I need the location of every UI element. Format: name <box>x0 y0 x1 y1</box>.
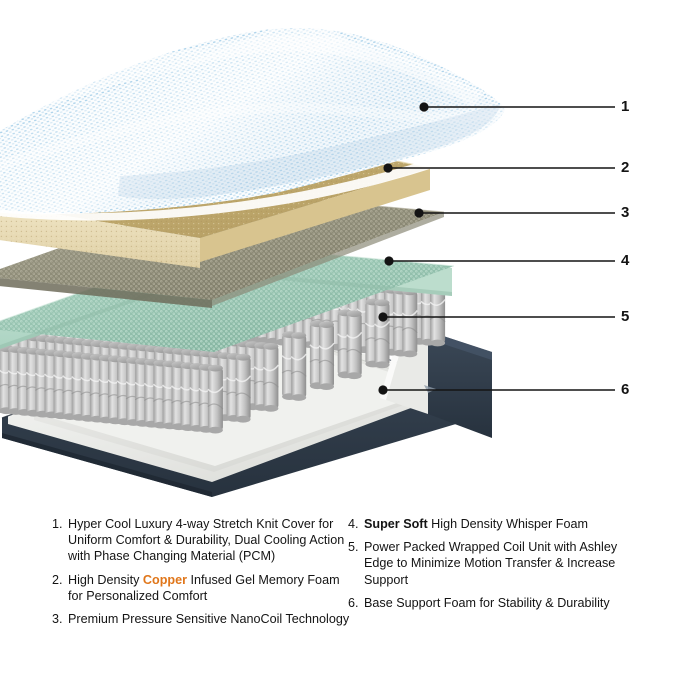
legend-item-number: 1. <box>52 516 68 532</box>
callout-number-5: 5 <box>621 309 641 324</box>
legend-copper-highlight: Copper <box>143 573 187 587</box>
mattress-cutaway-diagram <box>0 0 700 510</box>
legend-item-left-2: 2.High Density Copper Infused Gel Memory… <box>52 572 352 604</box>
legend-emphasis: Super Soft <box>364 517 428 531</box>
legend-item-text: Hyper Cool Luxury 4-way Stretch Knit Cov… <box>68 516 352 565</box>
mattress-construction-figure: 123456 1.Hyper Cool Luxury 4-way Stretch… <box>0 0 700 700</box>
legend-text-run: High Density <box>68 573 143 587</box>
legend-item-number: 3. <box>52 611 68 627</box>
legend-item-left-1: 1.Hyper Cool Luxury 4-way Stretch Knit C… <box>52 516 352 565</box>
wrapped-coil <box>291 332 306 401</box>
wrapped-coil <box>402 289 417 358</box>
wrapped-coil <box>347 310 362 379</box>
legend-item-right-3: 6.Base Support Foam for Stability & Dura… <box>348 595 648 611</box>
legend-item-text: Super Soft High Density Whisper Foam <box>364 516 648 532</box>
legend-item-number: 6. <box>348 595 364 611</box>
legend-text-run: Hyper Cool Luxury 4-way Stretch Knit Cov… <box>68 517 344 563</box>
legend-item-number: 2. <box>52 572 68 588</box>
legend-column-left: 1.Hyper Cool Luxury 4-way Stretch Knit C… <box>52 516 352 634</box>
callout-number-4: 4 <box>621 253 641 268</box>
legend-item-text: High Density Copper Infused Gel Memory F… <box>68 572 352 604</box>
legend-item-right-1: 4.Super Soft High Density Whisper Foam <box>348 516 648 532</box>
callout-dot-4 <box>384 256 393 265</box>
wrapped-coil <box>375 299 390 368</box>
legend-item-text: Premium Pressure Sensitive NanoCoil Tech… <box>68 611 352 627</box>
callout-dot-1 <box>419 102 428 111</box>
callout-dot-3 <box>414 208 423 217</box>
callout-dot-5 <box>378 312 387 321</box>
legend-item-number: 4. <box>348 516 364 532</box>
wrapped-coil <box>263 343 278 412</box>
wrapped-coil <box>319 321 334 390</box>
legend-text-run: Base Support Foam for Stability & Durabi… <box>364 596 610 610</box>
legend-text-run: Power Packed Wrapped Coil Unit with Ashl… <box>364 540 617 586</box>
legend-item-text: Base Support Foam for Stability & Durabi… <box>364 595 648 611</box>
wrapped-coil <box>236 354 251 423</box>
callout-number-6: 6 <box>621 382 641 397</box>
callout-number-3: 3 <box>621 205 641 220</box>
legend-item-left-3: 3.Premium Pressure Sensitive NanoCoil Te… <box>52 611 352 627</box>
legend-item-right-2: 5.Power Packed Wrapped Coil Unit with As… <box>348 539 648 588</box>
legend-column-right: 4.Super Soft High Density Whisper Foam5.… <box>348 516 648 618</box>
callout-dot-2 <box>383 163 392 172</box>
callout-number-1: 1 <box>621 99 641 114</box>
mattress-layers-svg <box>0 0 700 510</box>
legend: 1.Hyper Cool Luxury 4-way Stretch Knit C… <box>0 516 700 700</box>
callout-number-2: 2 <box>621 160 641 175</box>
legend-text-run: High Density Whisper Foam <box>428 517 588 531</box>
legend-item-number: 5. <box>348 539 364 555</box>
legend-text-run: Premium Pressure Sensitive NanoCoil Tech… <box>68 612 349 626</box>
legend-item-text: Power Packed Wrapped Coil Unit with Ashl… <box>364 539 648 588</box>
callout-dot-6 <box>378 385 387 394</box>
wrapped-coil <box>208 365 223 434</box>
